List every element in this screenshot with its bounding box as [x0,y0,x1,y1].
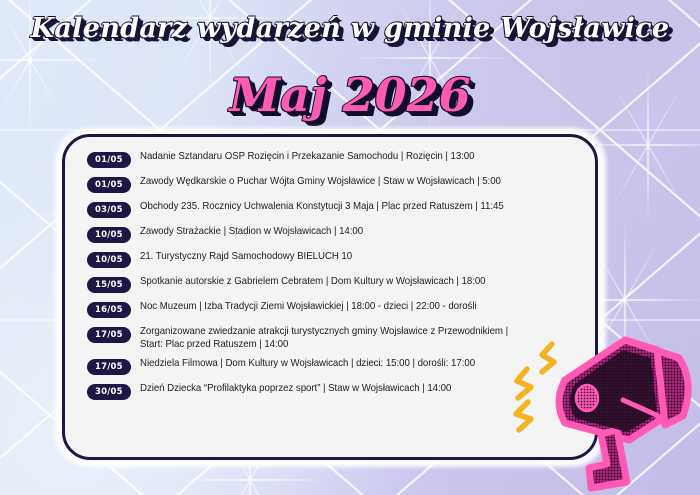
event-description: Dzień Dziecka “Profilaktyka poprzez spor… [140,383,451,396]
event-description: Zawody Strażackie | Stadion w Wojsławica… [140,226,363,239]
event-description: 21. Turystyczny Rajd Samochodowy BIELUCH… [140,251,352,264]
event-date-badge: 10/05 [87,227,131,243]
sound-wave-icon [516,344,554,430]
event-date-badge: 01/05 [87,152,131,168]
event-row: 03/05Obchody 235. Rocznicy Uchwalenia Ko… [87,201,587,218]
event-date-badge: 16/05 [87,302,131,318]
event-date-badge: 17/05 [87,359,131,375]
event-date-badge: 01/05 [87,177,131,193]
event-date-badge: 15/05 [87,277,131,293]
event-description: Noc Muzeum | Izba Tradycji Ziemi Wojsław… [140,301,477,314]
event-row: 01/05Zawody Wędkarskie o Puchar Wójta Gm… [87,176,587,193]
event-row: 16/05Noc Muzeum | Izba Tradycji Ziemi Wo… [87,301,587,318]
event-description: Zawody Wędkarskie o Puchar Wójta Gminy W… [140,176,501,189]
poster-month: Maj 2026 [0,68,700,122]
event-description: Niedziela Filmowa | Dom Kultury w Wojsła… [140,358,475,371]
event-row: 01/05Nadanie Sztandaru OSP Rozięcin i Pr… [87,151,587,168]
event-description: Spotkanie autorskie z Gabrielem Cebratem… [140,276,486,289]
event-row: 10/0521. Turystyczny Rajd Samochodowy BI… [87,251,587,268]
event-description: Nadanie Sztandaru OSP Rozięcin i Przekaz… [140,151,474,164]
event-row: 10/05Zawody Strażackie | Stadion w Wojsł… [87,226,587,243]
event-date-badge: 10/05 [87,252,131,268]
event-description: Zorganizowane zwiedzanie atrakcji turyst… [140,326,508,351]
event-date-badge: 30/05 [87,384,131,400]
poster-canvas: Kalendarz wydarzeń w gminie Wojsławice M… [0,0,700,495]
megaphone-illustration [505,322,700,495]
event-date-badge: 03/05 [87,202,131,218]
event-description: Obchody 235. Rocznicy Uchwalenia Konstyt… [140,201,504,214]
event-row: 15/05Spotkanie autorskie z Gabrielem Ceb… [87,276,587,293]
event-date-badge: 17/05 [87,327,131,343]
poster-title: Kalendarz wydarzeń w gminie Wojsławice [0,13,700,44]
